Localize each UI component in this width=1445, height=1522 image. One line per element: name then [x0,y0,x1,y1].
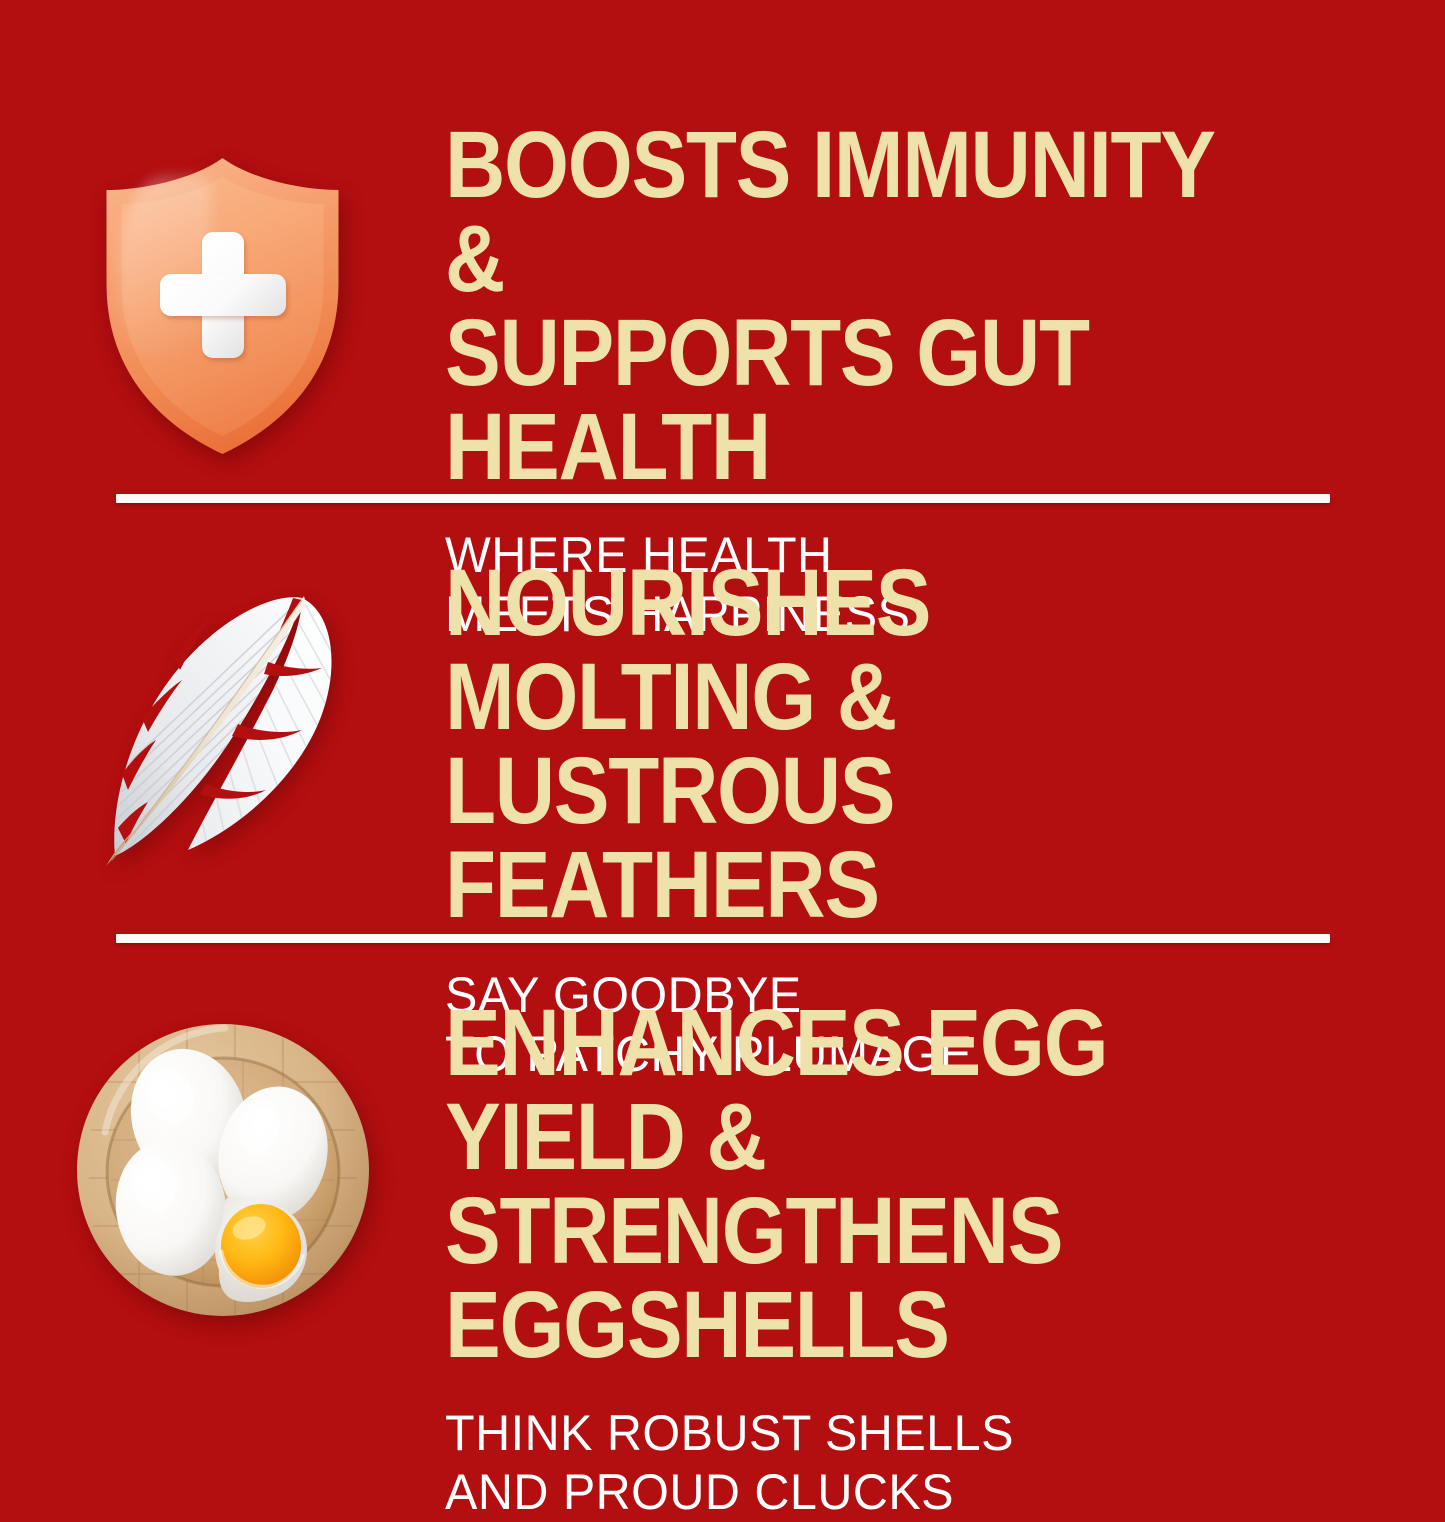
feature-icon-cell [0,118,445,456]
feature-row-eggs: ENHANCES EGG YIELD & STRENGTHENS EGGSHEL… [0,996,1445,1522]
infographic-board: BOOSTS IMMUNITY & SUPPORTS GUT HEALTH WH… [0,0,1445,1445]
shield-plus-icon [97,156,349,456]
feature-icon-cell [0,556,445,878]
bowl-of-eggs-icon [75,1022,371,1318]
feature-headline: NOURISHES MOLTING & LUSTROUS FEATHERS [445,556,1290,932]
feature-icon-cell [0,996,445,1318]
feature-subline: THINK ROBUST SHELLS AND PROUD CLUCKS [445,1404,1376,1522]
feature-headline: BOOSTS IMMUNITY & SUPPORTS GUT HEALTH [445,118,1290,494]
feather-icon [88,578,358,878]
feature-headline: ENHANCES EGG YIELD & STRENGTHENS EGGSHEL… [445,996,1290,1372]
section-divider-1 [116,494,1330,503]
feature-text-cell: ENHANCES EGG YIELD & STRENGTHENS EGGSHEL… [445,996,1445,1522]
section-divider-2 [116,934,1330,943]
plus-cross-icon [160,232,286,358]
